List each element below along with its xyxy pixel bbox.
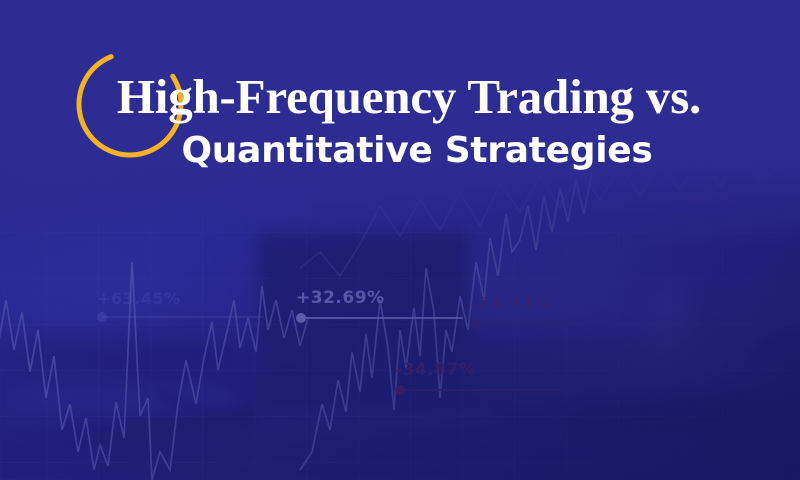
annotation-bar [296, 313, 463, 323]
annotation-rule [102, 316, 263, 318]
annotation-rule [682, 216, 798, 217]
annotation-negative-24: -24.93% [470, 294, 620, 329]
annotation-bar [470, 319, 620, 329]
annotation-bar [395, 385, 560, 395]
annotation-rule [400, 389, 560, 391]
annotation-value: +32.69% [296, 288, 463, 308]
annotation-value: +63.45% [97, 289, 263, 308]
annotation-bar [97, 312, 263, 322]
annotation-bar [677, 212, 797, 222]
annotation-positive-63: +63.45% [97, 289, 263, 322]
annotation-value: -24.93% [470, 294, 620, 314]
banner-canvas: +63.45% +32.69% -24.93% -34.87% -32.76% [0, 0, 800, 480]
annotation-positive-32: +32.69% [296, 288, 463, 323]
annotation-negative-32: -32.76% [677, 190, 797, 222]
annotation-value: -34.87% [395, 360, 560, 380]
annotation-rule [301, 317, 463, 319]
annotation-value: -32.76% [677, 190, 797, 208]
annotation-negative-34: -34.87% [395, 360, 560, 395]
annotation-rule [475, 323, 620, 325]
gold-open-circle-icon [73, 47, 187, 161]
